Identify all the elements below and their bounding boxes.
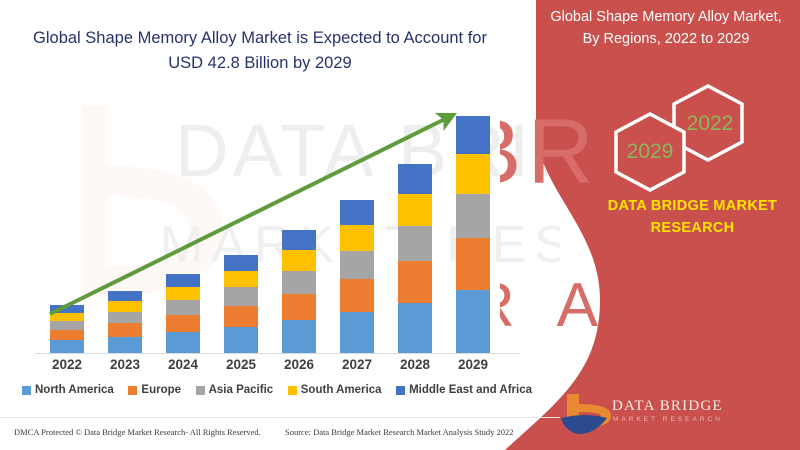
legend-item-middle-east-and-africa[interactable]: Middle East and Africa: [396, 384, 532, 396]
growth-arrow-icon: [0, 0, 540, 360]
dmca-notice: DMCA Protected © Data Bridge Market Rese…: [14, 427, 261, 437]
infographic-canvas: DATA BRIDGE MARKET RESEARCH BR R A Globa…: [0, 0, 800, 450]
chart-x-label: 2024: [153, 357, 213, 372]
legend-item-south-america[interactable]: South America: [288, 384, 382, 396]
chart-x-label: 2029: [443, 357, 503, 372]
chart-x-label: 2027: [327, 357, 387, 372]
hexagon-badges: 2022 2029: [600, 80, 780, 200]
legend-swatch-icon: [196, 386, 205, 395]
stacked-bar-chart: 20222023202420252026202720282029: [0, 0, 540, 420]
legend-label: Europe: [141, 384, 181, 396]
chart-x-label: 2022: [37, 357, 97, 372]
legend-label: Middle East and Africa: [409, 384, 532, 396]
brand-line-1: DATA BRIDGE MARKET: [585, 196, 800, 218]
chart-x-label: 2023: [95, 357, 155, 372]
logo-wordmark: DATA BRIDGE: [612, 398, 723, 415]
chart-x-axis-labels: 20222023202420252026202720282029: [0, 357, 540, 379]
legend-swatch-icon: [22, 386, 31, 395]
right-panel-title: Global Shape Memory Alloy Market, By Reg…: [540, 6, 792, 51]
legend-item-north-america[interactable]: North America: [22, 384, 114, 396]
hexagon-2029-label: 2029: [627, 140, 674, 163]
chart-x-label: 2028: [385, 357, 445, 372]
logo-tagline: MARKET RESEARCH: [613, 416, 723, 423]
legend-swatch-icon: [288, 386, 297, 395]
legend-item-asia-pacific[interactable]: Asia Pacific: [196, 384, 274, 396]
footer-divider: [0, 417, 560, 418]
legend-swatch-icon: [396, 386, 405, 395]
legend-label: Asia Pacific: [209, 384, 274, 396]
hexagon-2022-label: 2022: [687, 112, 734, 135]
legend-swatch-icon: [128, 386, 137, 395]
brand-name: DATA BRIDGE MARKET RESEARCH: [585, 196, 800, 240]
chart-legend: North AmericaEuropeAsia PacificSouth Ame…: [22, 384, 532, 396]
legend-item-europe[interactable]: Europe: [128, 384, 181, 396]
source-note: Source: Data Bridge Market Research Mark…: [285, 427, 514, 437]
legend-label: North America: [35, 384, 114, 396]
chart-x-label: 2026: [269, 357, 329, 372]
legend-label: South America: [301, 384, 382, 396]
chart-x-label: 2025: [211, 357, 271, 372]
brand-line-2: RESEARCH: [585, 218, 800, 240]
